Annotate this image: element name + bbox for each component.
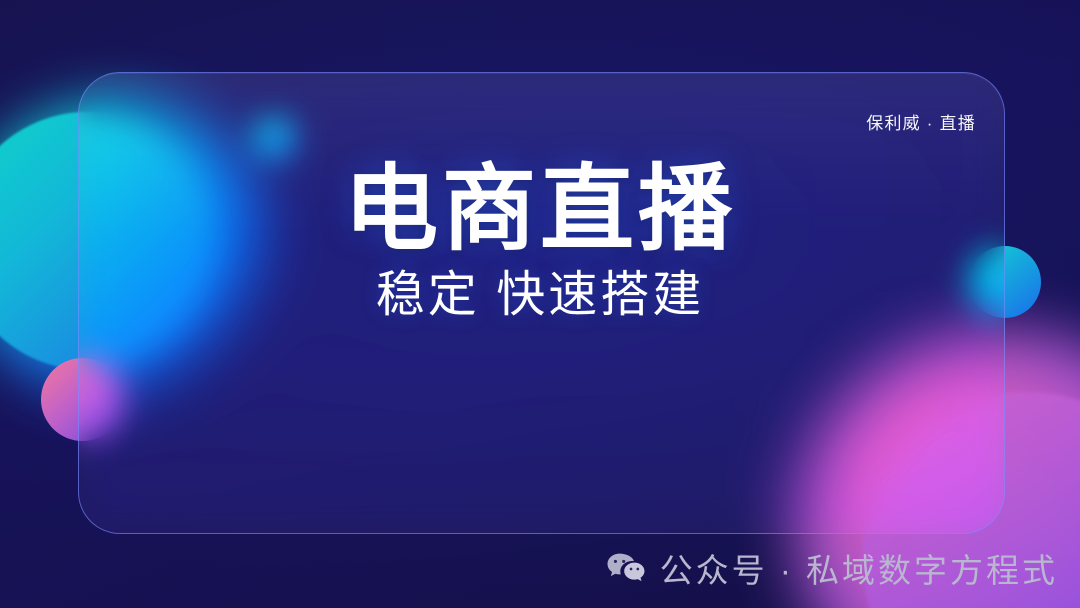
glass-sheen	[79, 73, 1004, 533]
footer-handle: 公众号 · 私域数字方程式	[606, 544, 1058, 592]
glass-card: 保利威 · 直播	[78, 72, 1005, 534]
slide-canvas: 保利威 · 直播 电商直播 稳定 快速搭建 公众号 · 私域数字方程式	[0, 0, 1080, 608]
footer-label: 公众号 · 私域数字方程式	[660, 544, 1058, 592]
brand-tag: 保利威 · 直播	[866, 109, 976, 134]
wechat-icon	[606, 552, 646, 585]
